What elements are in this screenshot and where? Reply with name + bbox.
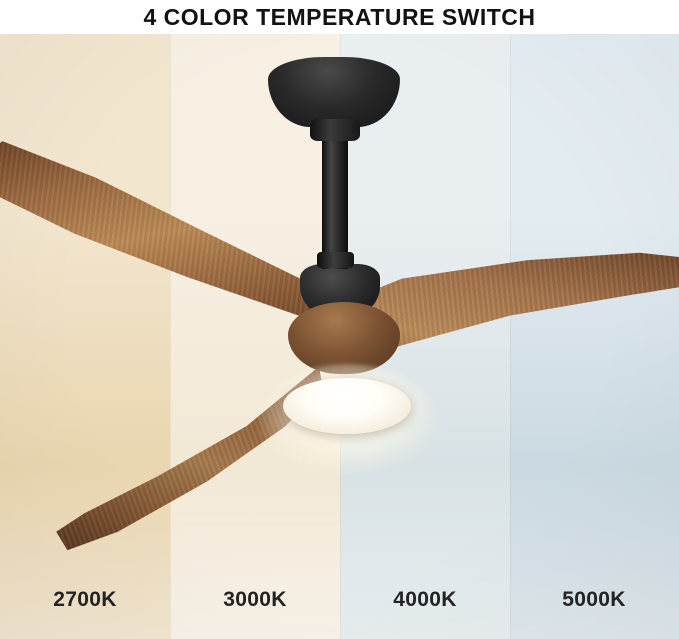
label-2700k: 2700K xyxy=(0,588,170,612)
product-feature-image: 4 COLOR TEMPERATURE SWITCH xyxy=(0,0,679,639)
swatch-divider xyxy=(510,34,511,639)
light-lens xyxy=(283,378,411,434)
label-3000k: 3000K xyxy=(170,588,340,612)
downrod xyxy=(322,134,348,269)
swatch-divider xyxy=(170,34,171,639)
canopy-base xyxy=(310,119,360,141)
product-photo: 2700K 3000K 4000K 5000K xyxy=(0,34,679,639)
downrod-collar xyxy=(317,252,354,268)
label-5000k: 5000K xyxy=(509,588,679,612)
ceiling-canopy xyxy=(268,57,400,127)
page-title: 4 COLOR TEMPERATURE SWITCH xyxy=(0,0,679,34)
label-4000k: 4000K xyxy=(340,588,510,612)
